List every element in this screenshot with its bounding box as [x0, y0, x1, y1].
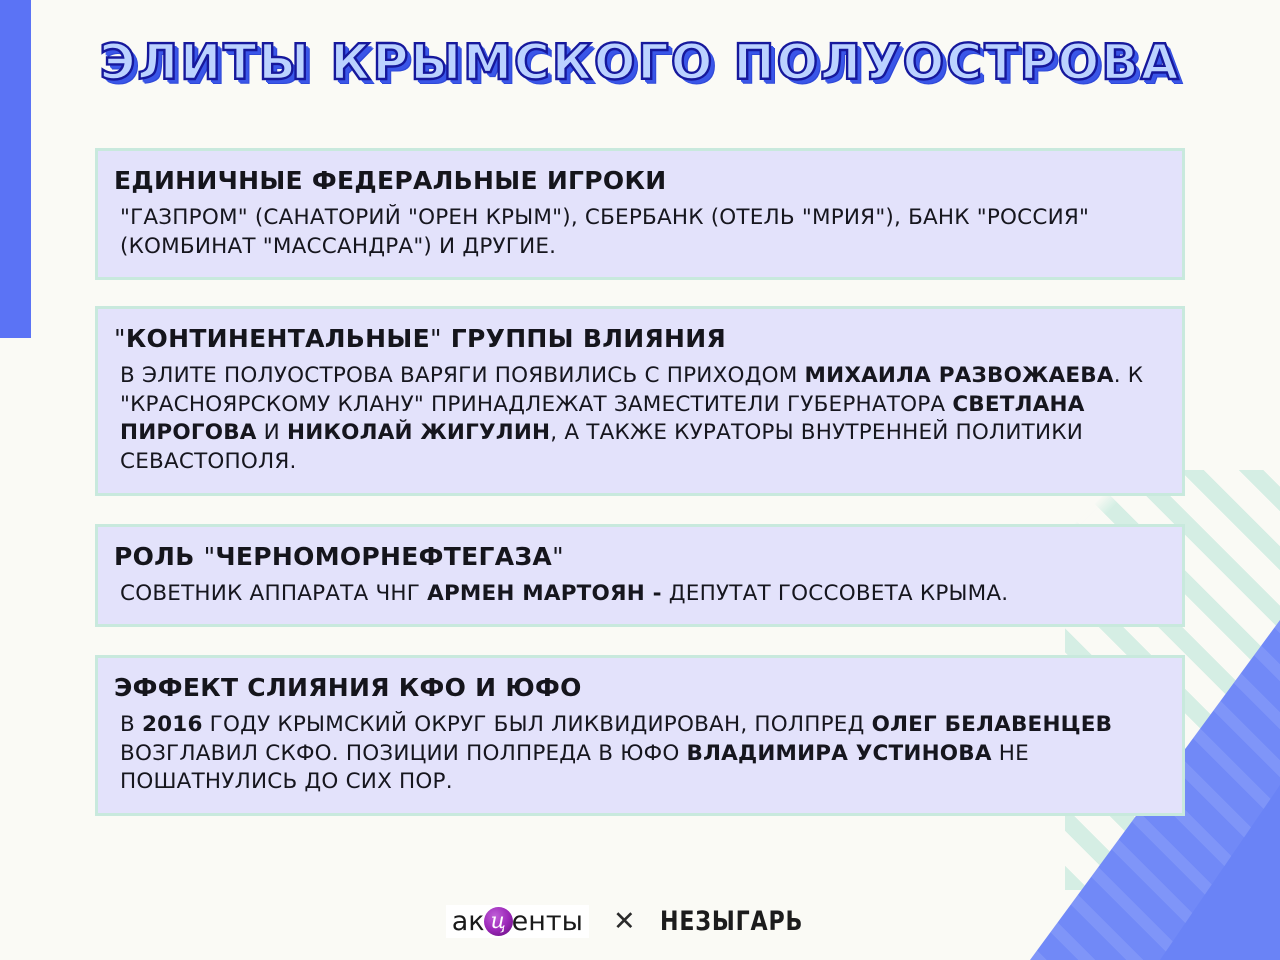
info-card: "КОНТИНЕНТАЛЬНЫЕ" ГРУППЫ ВЛИЯНИЯ В ЭЛИТЕ…: [95, 306, 1185, 495]
footer-logos: ак ц енты ✕ НЕЗЫГАРЬ: [0, 905, 1280, 938]
nezygar-logo: НЕЗЫГАРЬ: [660, 906, 803, 937]
card-title: ЕДИНИЧНЫЕ ФЕДЕРАЛЬНЫЕ ИГРОКИ: [114, 167, 1164, 195]
card-body: СОВЕТНИК АППАРАТА ЧНГ АРМЕН МАРТОЯН - ДЕ…: [114, 580, 1164, 609]
card-title: РОЛЬ "ЧЕРНОМОРНЕФТЕГАЗА": [114, 543, 1164, 571]
akcenty-circle-icon: ц: [484, 907, 513, 936]
card-body: В 2016 ГОДУ КРЫМСКИЙ ОКРУГ БЫЛ ЛИКВИДИРО…: [114, 711, 1164, 797]
info-card: РОЛЬ "ЧЕРНОМОРНЕФТЕГАЗА" СОВЕТНИК АППАРА…: [95, 524, 1185, 628]
info-card: ЕДИНИЧНЫЕ ФЕДЕРАЛЬНЫЕ ИГРОКИ "ГАЗПРОМ" (…: [95, 148, 1185, 280]
poster-title-container: ЭЛИТЫ КРЫМСКОГО ПОЛУОСТРОВА: [0, 36, 1280, 90]
info-card: ЭФФЕКТ СЛИЯНИЯ КФО И ЮФО В 2016 ГОДУ КРЫ…: [95, 655, 1185, 816]
cross-separator-icon: ✕: [609, 906, 640, 937]
card-body: В ЭЛИТЕ ПОЛУОСТРОВА ВАРЯГИ ПОЯВИЛИСЬ С П…: [114, 362, 1164, 476]
card-body: "ГАЗПРОМ" (САНАТОРИЙ "ОРЕН КРЫМ"), СБЕРБ…: [114, 204, 1164, 261]
akcenty-logo-prefix: ак: [452, 908, 485, 935]
akcenty-logo-suffix: енты: [512, 908, 583, 935]
card-title: ЭФФЕКТ СЛИЯНИЯ КФО И ЮФО: [114, 674, 1164, 702]
akcenty-logo: ак ц енты: [446, 905, 589, 938]
page-title: ЭЛИТЫ КРЫМСКОГО ПОЛУОСТРОВА: [99, 36, 1180, 90]
cards-list: ЕДИНИЧНЫЕ ФЕДЕРАЛЬНЫЕ ИГРОКИ "ГАЗПРОМ" (…: [95, 148, 1185, 816]
card-title: "КОНТИНЕНТАЛЬНЫЕ" ГРУППЫ ВЛИЯНИЯ: [114, 325, 1164, 353]
